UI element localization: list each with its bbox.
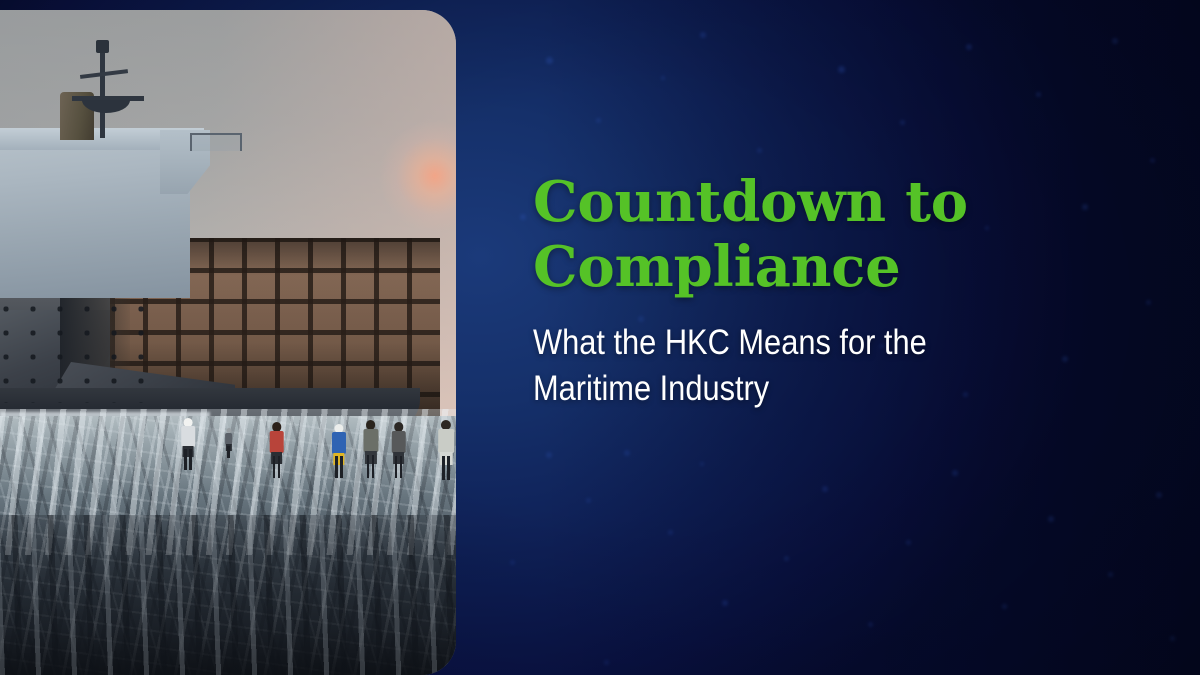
worker-torso [332, 432, 346, 454]
worker-leg-right [189, 449, 192, 470]
mast-light-icon [96, 40, 109, 53]
slide-title: Countdown to Compliance [533, 170, 1133, 300]
worker-leg-left [184, 449, 187, 470]
worker-leg-right [372, 455, 375, 478]
foreground-churned-mud [0, 515, 456, 675]
worker-torso [438, 429, 454, 453]
worker-leg-right [400, 456, 403, 478]
radar-mast-pole [100, 50, 105, 138]
worker-figure [224, 428, 233, 458]
worker-figure [390, 422, 407, 478]
shipbreaking-photo-panel [0, 10, 456, 675]
superstructure-portholes [0, 303, 165, 403]
presentation-slide: Countdown to Compliance What the HKC Mea… [0, 0, 1200, 675]
slide-subtitle: What the HKC Means for the Maritime Indu… [533, 320, 1061, 413]
worker-torso [225, 433, 233, 445]
worker-leg-left [335, 456, 338, 478]
worker-figure [331, 424, 347, 478]
worker-torso [181, 426, 195, 447]
worker-leg-left [273, 456, 276, 478]
worker-figure [362, 420, 379, 478]
slide-text-block: Countdown to Compliance What the HKC Mea… [533, 170, 1133, 413]
worker-leg-right [340, 456, 343, 478]
worker-figure [437, 420, 455, 480]
worker-leg-right [228, 446, 231, 458]
worker-figure [180, 418, 196, 470]
worker-torso [363, 429, 378, 452]
worker-torso [269, 431, 284, 453]
worker-leg-left [395, 456, 398, 478]
worker-torso [391, 431, 406, 453]
worker-leg-left [442, 456, 445, 480]
worker-leg-right [447, 456, 450, 480]
photo-scene [0, 10, 456, 675]
deck-railing [190, 133, 242, 151]
worker-leg-left [367, 455, 370, 478]
worker-leg-right [278, 456, 281, 478]
worker-figure [268, 422, 285, 478]
